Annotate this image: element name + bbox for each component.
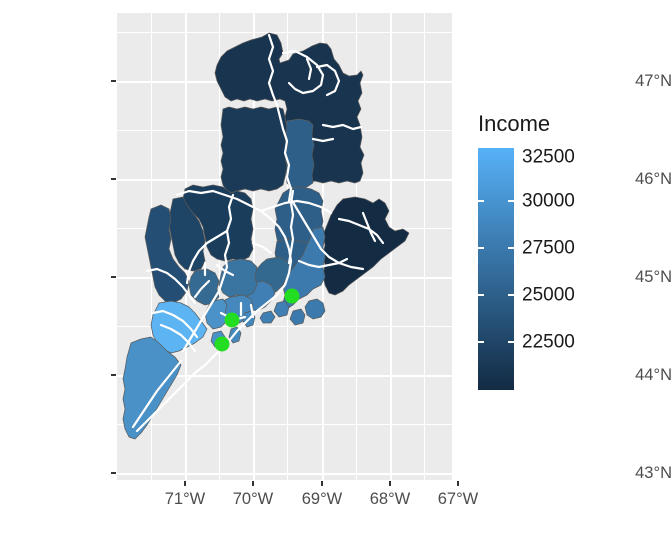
legend-tick-right-25000 xyxy=(508,294,514,296)
island-mount-desert[interactable] xyxy=(305,299,325,319)
y-tick-mark-43n xyxy=(111,472,116,473)
island-vinalhaven[interactable] xyxy=(260,311,275,323)
city-point-3[interactable] xyxy=(215,337,230,352)
y-tick-label-45n: 45°N xyxy=(567,269,672,286)
legend-tick-left-30000 xyxy=(478,200,484,202)
legend-tick-left-25000 xyxy=(478,294,484,296)
legend-label-30000: 30000 xyxy=(522,192,575,211)
county-piscataquis[interactable] xyxy=(221,107,287,193)
x-tick-mark-69w xyxy=(321,481,322,486)
island-small-1[interactable] xyxy=(290,309,305,325)
legend-tick-right-27500 xyxy=(508,247,514,249)
city-point-2[interactable] xyxy=(225,313,240,328)
y-tick-mark-44n xyxy=(111,374,116,375)
legend-tick-left-22500 xyxy=(478,341,484,343)
x-tick-mark-71w xyxy=(184,481,185,486)
map-panel xyxy=(117,13,452,480)
y-tick-mark-46n xyxy=(111,178,116,179)
road-small-1 xyxy=(253,243,271,253)
legend-label-27500: 27500 xyxy=(522,239,575,258)
county-kennebec[interactable] xyxy=(219,259,257,297)
legend-tick-right-30000 xyxy=(508,200,514,202)
y-tick-label-46n: 46°N xyxy=(567,171,672,188)
legend-label-25000: 25000 xyxy=(522,286,575,305)
legend-colorbar[interactable] xyxy=(478,148,514,390)
y-tick-mark-47n xyxy=(111,80,116,81)
x-tick-label-70w: 70°W xyxy=(213,491,293,508)
y-tick-label-43n: 43°N xyxy=(567,465,672,482)
legend-tick-right-22500 xyxy=(508,341,514,343)
legend-label-22500: 22500 xyxy=(522,333,575,352)
y-tick-mark-45n xyxy=(111,276,116,277)
legend-title: Income xyxy=(478,113,550,135)
legend-label-32500: 32500 xyxy=(522,148,575,167)
y-tick-label-47n: 47°N xyxy=(567,73,672,90)
x-tick-mark-68w xyxy=(389,481,390,486)
x-tick-mark-70w xyxy=(252,481,253,486)
coast-fragment-4[interactable] xyxy=(274,301,289,317)
legend-tick-left-27500 xyxy=(478,247,484,249)
x-tick-label-67w: 67°W xyxy=(418,491,498,508)
maine-choropleth xyxy=(117,13,452,480)
plot-root: 47°N 46°N 45°N 44°N 43°N 71°W 70°W 69°W … xyxy=(0,0,672,537)
county-washington[interactable] xyxy=(323,197,409,295)
county-penobscot-north[interactable] xyxy=(286,119,314,189)
city-point-1[interactable] xyxy=(285,289,300,304)
x-tick-mark-67w xyxy=(457,481,458,486)
y-tick-label-44n: 44°N xyxy=(567,367,672,384)
